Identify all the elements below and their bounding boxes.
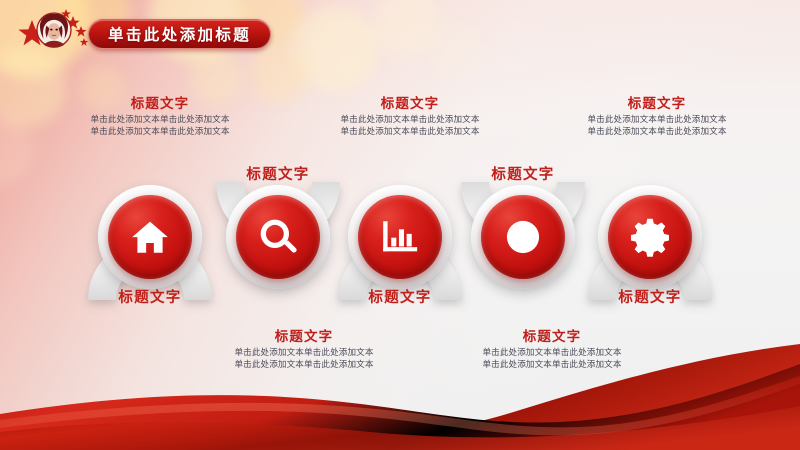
process-node-5[interactable]: [598, 185, 702, 289]
text-block-line: 单击此处添加文本单击此处添加文本: [54, 115, 266, 127]
text-block-line: 单击此处添加文本单击此处添加文本: [304, 115, 516, 127]
text-block-line: 单击此处添加文本单击此处添加文本: [551, 115, 763, 127]
node-label-4: 标题文字: [443, 163, 603, 184]
gear-icon: [608, 195, 692, 279]
process-node-4[interactable]: [471, 185, 575, 289]
node-label-2: 标题文字: [198, 163, 358, 184]
text-block-line: 单击此处添加文本单击此处添加文本: [551, 127, 763, 139]
slide-canvas: 单击此处添加标题: [0, 0, 800, 450]
text-block-line: 单击此处添加文本单击此处添加文本: [54, 127, 266, 139]
red-silk-ribbon: [0, 340, 800, 450]
text-block-title: 标题文字: [54, 92, 266, 112]
process-node-2[interactable]: [226, 185, 330, 289]
process-node-3[interactable]: [348, 185, 452, 289]
text-block-top-center: 标题文字 单击此处添加文本单击此处添加文本 单击此处添加文本单击此处添加文本: [304, 92, 516, 138]
home-icon: [108, 195, 192, 279]
node-label-5: 标题文字: [570, 286, 730, 307]
text-block-title: 标题文字: [551, 92, 763, 112]
text-block-top-left: 标题文字 单击此处添加文本单击此处添加文本 单击此处添加文本单击此处添加文本: [54, 92, 266, 138]
portrait-star-badge-icon: [18, 4, 96, 58]
bar-chart-icon: [358, 195, 442, 279]
text-block-title: 标题文字: [304, 92, 516, 112]
slide-title-badge[interactable]: 单击此处添加标题: [88, 19, 271, 49]
search-icon: [236, 195, 320, 279]
slide-title-text: 单击此处添加标题: [108, 23, 251, 45]
node-label-1: 标题文字: [70, 286, 230, 307]
check-circle-icon: [481, 195, 565, 279]
node-label-3: 标题文字: [320, 286, 480, 307]
text-block-line: 单击此处添加文本单击此处添加文本: [304, 127, 516, 139]
process-node-1[interactable]: [98, 185, 202, 289]
header: 单击此处添加标题: [0, 0, 800, 62]
text-block-top-right: 标题文字 单击此处添加文本单击此处添加文本 单击此处添加文本单击此处添加文本: [551, 92, 763, 138]
